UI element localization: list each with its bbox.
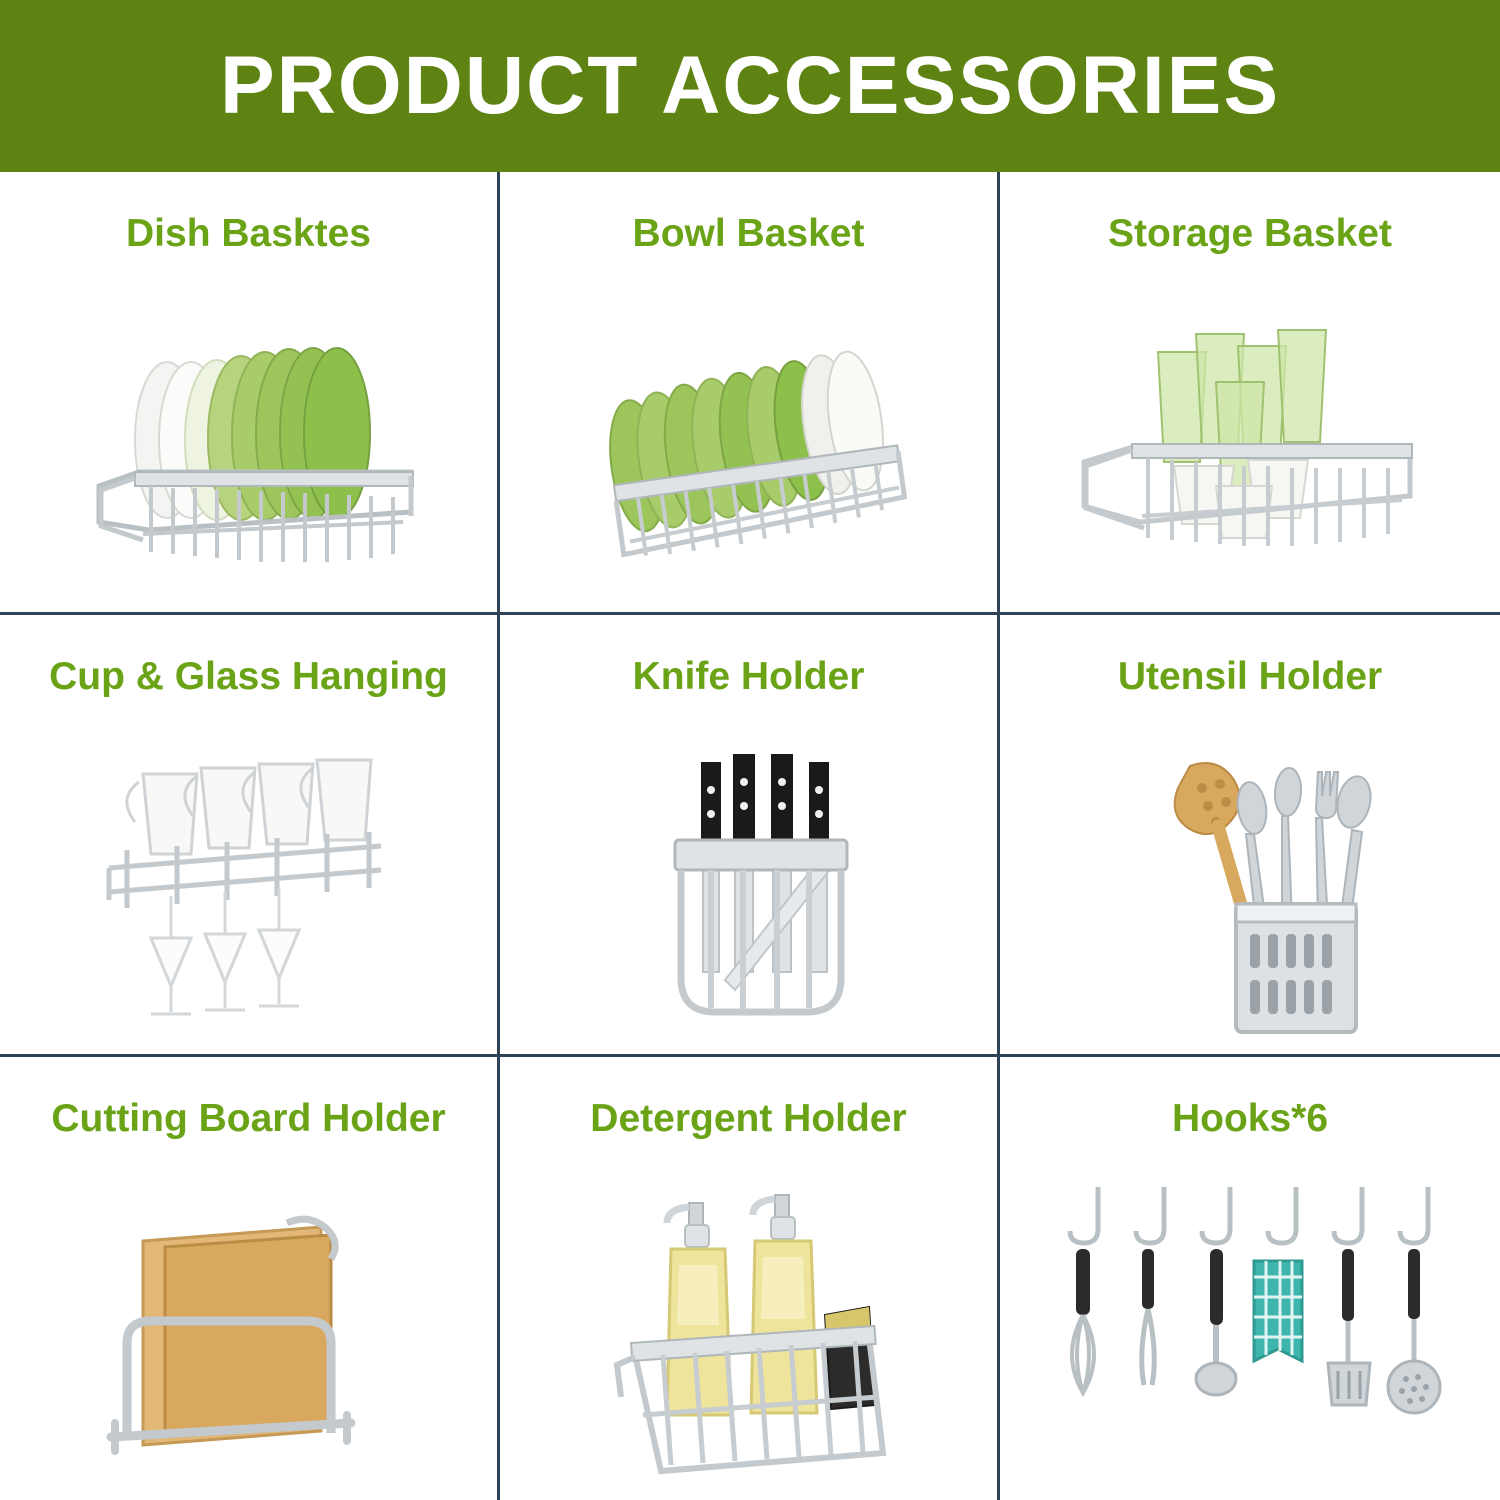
page-title: PRODUCT ACCESSORIES [220,45,1280,127]
detergent-holder-icon [500,1162,997,1487]
cell-title-utensil-holder: Utensil Holder [1000,657,1500,696]
cell-title-cup-glass-hanging: Cup & Glass Hanging [0,657,497,696]
cell-title-detergent-holder: Detergent Holder [500,1099,997,1138]
header-banner: PRODUCT ACCESSORIES [0,0,1500,172]
storage-basket-icon [1000,277,1500,602]
cell-title-knife-holder: Knife Holder [500,657,997,696]
cell-hooks[interactable]: Hooks*6 [1000,1057,1500,1500]
cell-storage-basket[interactable]: Storage Basket [1000,172,1500,615]
cup-glass-hanging-icon [0,720,497,1045]
cell-utensil-holder[interactable]: Utensil Holder [1000,615,1500,1058]
cell-dish-baskets[interactable]: Dish Basktes [0,172,500,615]
hooks-icon [1000,1162,1500,1487]
cutting-board-holder-icon [0,1162,497,1487]
cell-bowl-basket[interactable]: Bowl Basket [500,172,1000,615]
cell-title-storage-basket: Storage Basket [1000,214,1500,253]
cell-title-cutting-board-holder: Cutting Board Holder [0,1099,497,1138]
utensil-holder-icon [1000,720,1500,1045]
dish-basket-icon [0,277,497,602]
cell-cutting-board-holder[interactable]: Cutting Board Holder [0,1057,500,1500]
cell-detergent-holder[interactable]: Detergent Holder [500,1057,1000,1500]
cell-title-hooks: Hooks*6 [1000,1099,1500,1138]
knife-holder-icon [500,720,997,1045]
product-accessories-page: PRODUCT ACCESSORIES Dish Basktes [0,0,1500,1500]
cell-title-bowl-basket: Bowl Basket [500,214,997,253]
bowl-basket-icon [500,277,997,602]
cell-title-dish-baskets: Dish Basktes [0,214,497,253]
cell-knife-holder[interactable]: Knife Holder [500,615,1000,1058]
cell-cup-glass-hanging[interactable]: Cup & Glass Hanging [0,615,500,1058]
accessories-grid: Dish Basktes [0,172,1500,1500]
